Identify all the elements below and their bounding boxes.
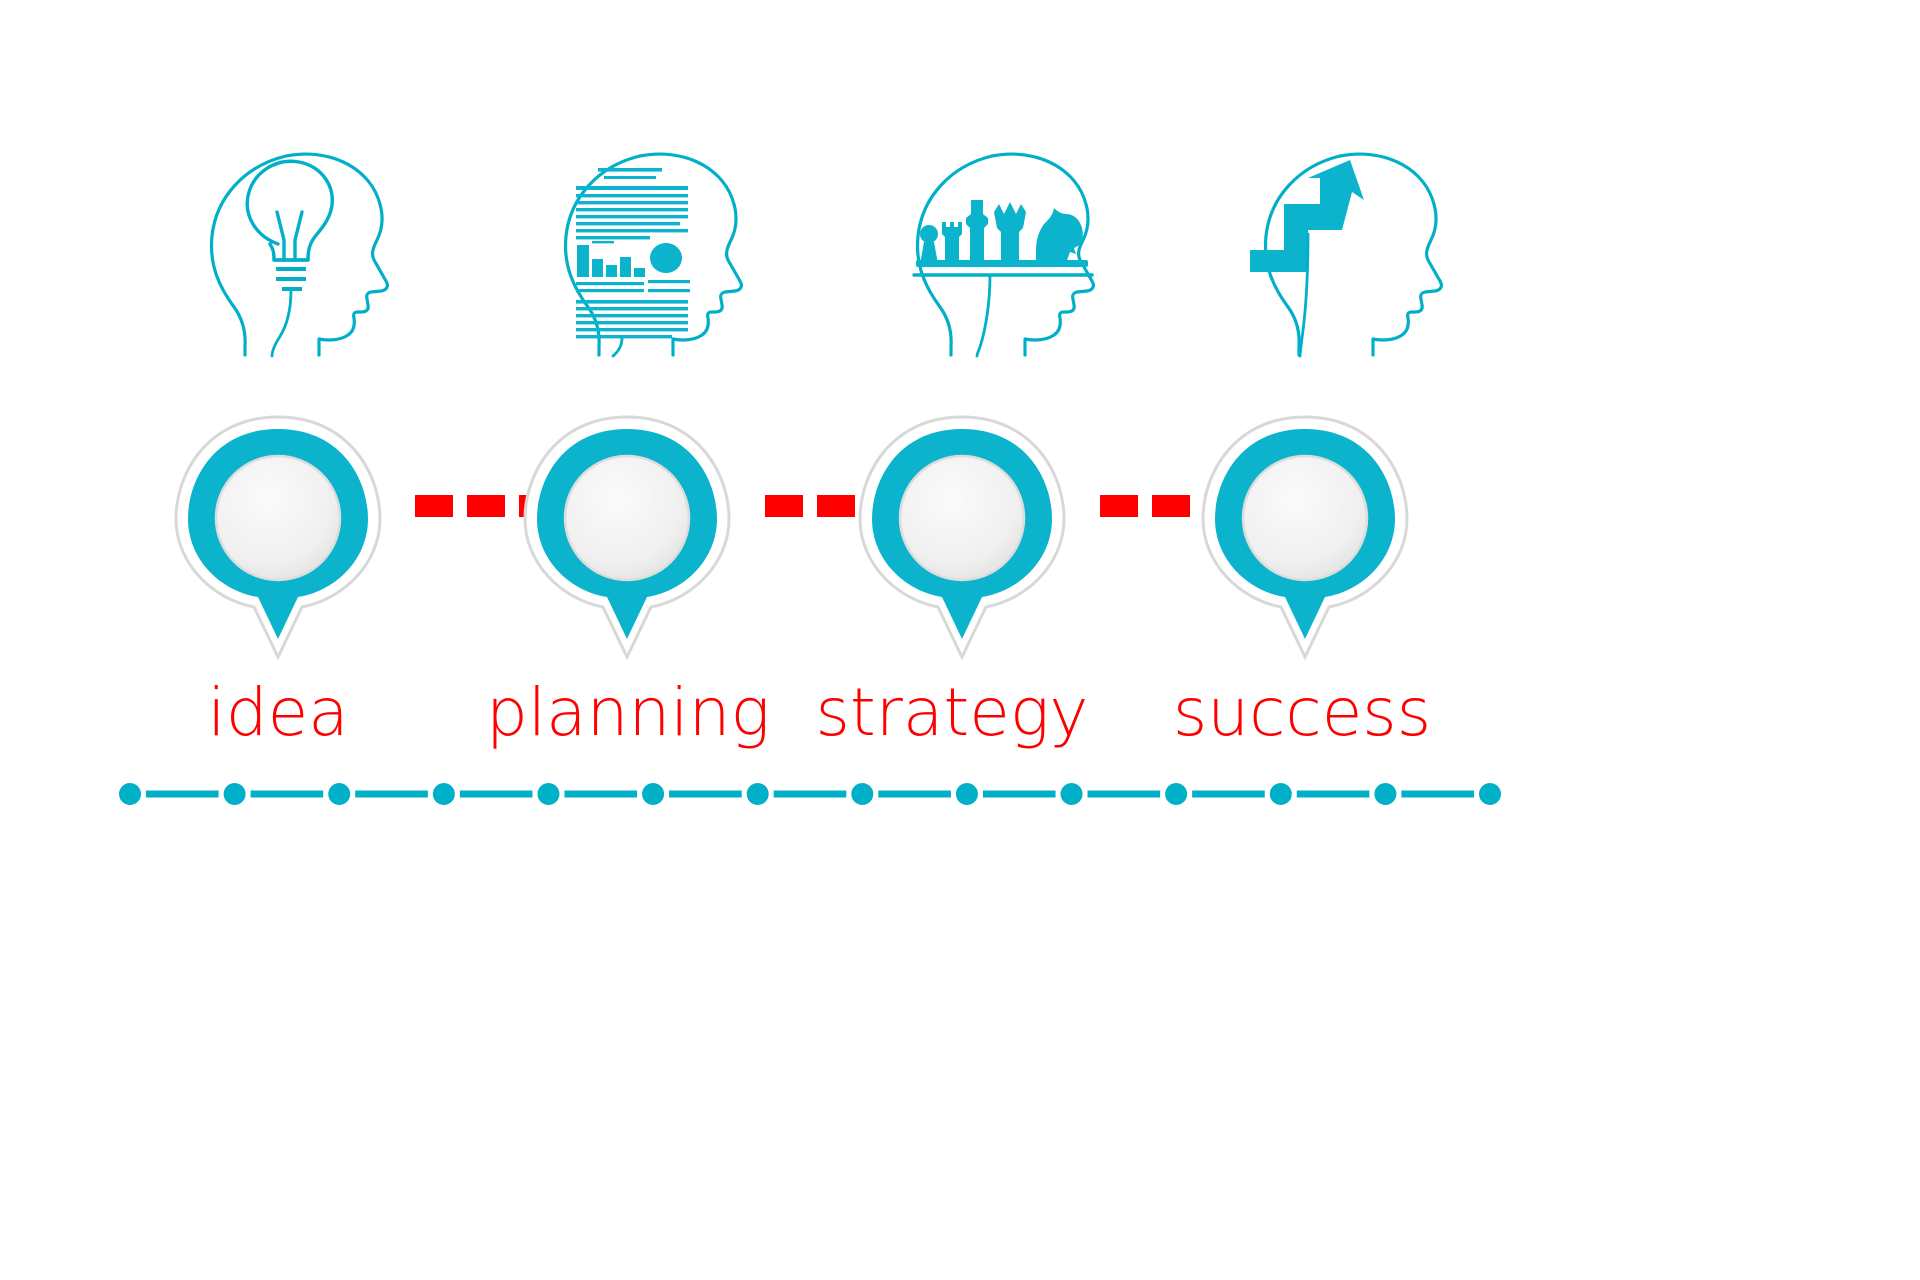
timeline-dot [747, 783, 769, 805]
infographic-canvas: idea planning strategy success [0, 0, 1920, 1280]
head-icons-row [0, 142, 1920, 367]
document-lower-lines [576, 280, 690, 338]
head-with-chess-pieces-icon [880, 142, 1140, 367]
step-labels-row: idea planning strategy success [0, 660, 1920, 770]
map-pin-marker-idea[interactable] [128, 385, 428, 685]
step-label-success: success [1092, 660, 1512, 765]
timeline-dot [1374, 783, 1396, 805]
head-with-document-icon [530, 142, 790, 367]
document-text-lines [576, 168, 688, 239]
timeline-dot [851, 783, 873, 805]
chess-pieces-group [916, 200, 1088, 267]
timeline-dot [1165, 783, 1187, 805]
timeline-dot [956, 783, 978, 805]
timeline-dot [537, 783, 559, 805]
timeline-dot [1061, 783, 1083, 805]
timeline-dot [1479, 783, 1501, 805]
head-with-lightbulb-icon [178, 142, 438, 367]
head-with-rising-arrow-icon [1228, 142, 1488, 367]
document-bar-chart [577, 241, 645, 277]
map-pin-marker-strategy[interactable] [812, 385, 1112, 685]
pin-markers-row [0, 385, 1920, 685]
dotted-progress-timeline [130, 770, 1490, 818]
document-pie-circle [650, 243, 682, 273]
timeline-dot [328, 783, 350, 805]
timeline-dot [642, 783, 664, 805]
timeline-dot [119, 783, 141, 805]
map-pin-marker-success[interactable] [1155, 385, 1455, 685]
timeline-dot [224, 783, 246, 805]
timeline-dot [1270, 783, 1292, 805]
timeline-dot [433, 783, 455, 805]
map-pin-marker-planning[interactable] [477, 385, 777, 685]
